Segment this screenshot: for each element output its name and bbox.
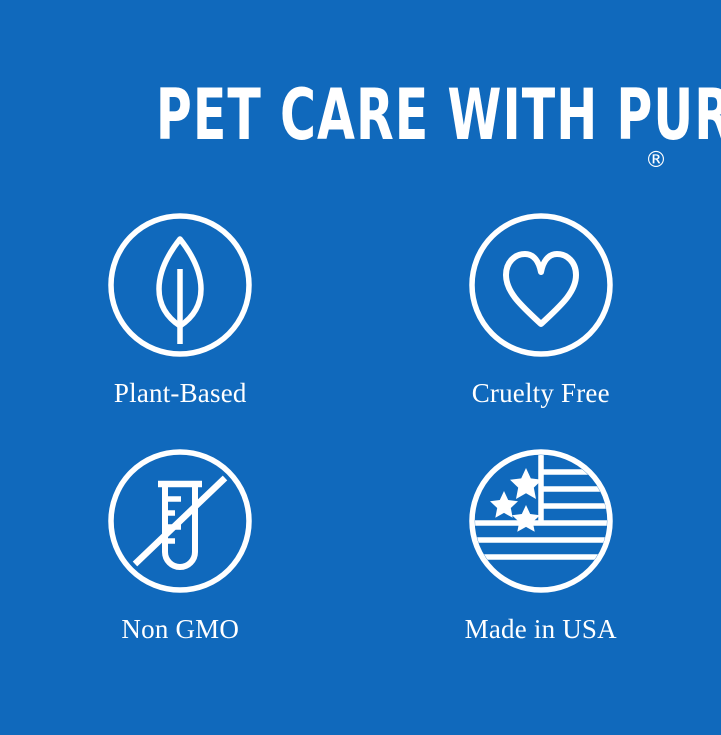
test-tube-crossed-out-icon: [107, 448, 253, 594]
badge-cruelty-free: Cruelty Free: [406, 212, 676, 448]
usa-flag-in-circle-icon: [468, 448, 614, 594]
headline-container: PET CARE WITH PURPOSE ®: [0, 78, 721, 152]
badge-made-in-usa: Made in USA: [406, 448, 676, 684]
badge-label-made-in-usa: Made in USA: [465, 614, 617, 644]
badge-label-plant-based: Plant-Based: [114, 378, 247, 408]
heart-in-circle-icon: [468, 212, 614, 358]
badge-grid: Plant-Based Cruelty Free: [0, 212, 721, 684]
badge-label-non-gmo: Non GMO: [121, 614, 239, 644]
badge-label-cruelty-free: Cruelty Free: [472, 378, 610, 408]
leaf-in-circle-icon: [107, 212, 253, 358]
badge-plant-based: Plant-Based: [45, 212, 315, 448]
page-title: PET CARE WITH PURPOSE: [156, 78, 721, 152]
badge-non-gmo: Non GMO: [45, 448, 315, 684]
pet-care-badge-panel: PET CARE WITH PURPOSE ® Plant-Based Crue…: [0, 0, 721, 735]
registered-trademark-symbol: ®: [645, 150, 667, 172]
